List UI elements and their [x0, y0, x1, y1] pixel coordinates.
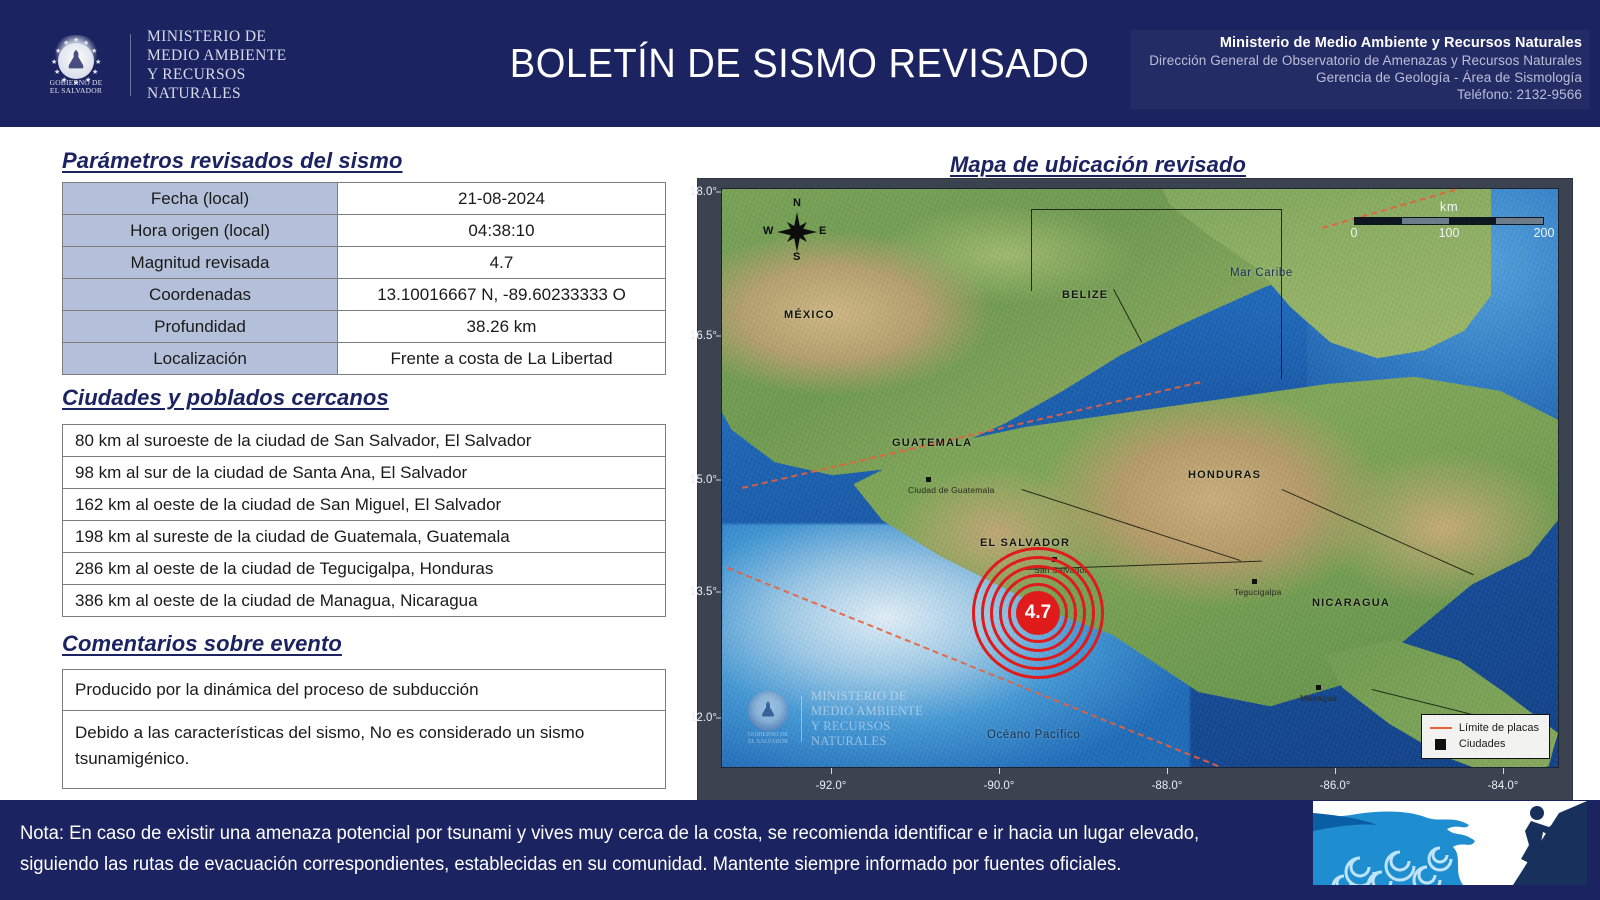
- table-row: Fecha (local) 21-08-2024: [63, 183, 666, 215]
- watermark-line-1: MINISTERIO DE: [811, 689, 923, 704]
- axis-x-tick-4: -84.0°: [1488, 780, 1519, 792]
- table-row: Profundidad 38.26 km: [63, 311, 666, 343]
- city-item-1: 98 km al sur de la ciudad de Santa Ana, …: [63, 457, 666, 489]
- table-row: 198 km al sureste de la ciudad de Guatem…: [63, 521, 666, 553]
- comments-section-title: Comentarios sobre evento: [62, 631, 342, 657]
- axis-x-tick-0: -92.0°: [816, 780, 847, 792]
- cities-table: 80 km al suroeste de la ciudad de San Sa…: [62, 424, 666, 617]
- param-value-magnitud: 4.7: [338, 247, 666, 279]
- map-label-managua: Managua: [1300, 693, 1337, 703]
- contact-area: Gerencia de Geología - Área de Sismologí…: [1138, 69, 1582, 86]
- axis-x-tick-1: -90.0°: [984, 780, 1015, 792]
- logo-divider: [130, 34, 131, 96]
- table-row: Hora origen (local) 04:38:10: [63, 215, 666, 247]
- contact-ministry: Ministerio de Medio Ambiente y Recursos …: [1138, 34, 1582, 52]
- table-row: Debido a las características del sismo, …: [63, 711, 666, 789]
- param-value-fecha: 21-08-2024: [338, 183, 666, 215]
- axis-y-tick-4: 12.0°: [690, 712, 717, 724]
- param-label-hora: Hora origen (local): [63, 215, 338, 247]
- axis-y-tick-3: 13.5°: [690, 586, 717, 598]
- border-belize-east: [1281, 209, 1282, 379]
- watermark-line-3: Y RECURSOS: [811, 719, 923, 734]
- map-axis-x: -92.0° -90.0° -88.0° -86.0° -84.0°: [721, 768, 1559, 802]
- parameters-table: Fecha (local) 21-08-2024 Hora origen (lo…: [62, 182, 666, 375]
- bulletin-page: ★ ★ ★ ★ ★ ★ ★ ★ ★ ★ ★ ★ GOBIE: [0, 0, 1600, 900]
- legend-label-plate-boundary: Límite de placas: [1459, 722, 1539, 734]
- city-item-2: 162 km al oeste de la ciudad de San Migu…: [63, 489, 666, 521]
- footer-note-text: Nota: En caso de existir una amenaza pot…: [20, 818, 1271, 880]
- tsunami-evacuation-icon: [1313, 801, 1587, 885]
- table-row: 80 km al suroeste de la ciudad de San Sa…: [63, 425, 666, 457]
- axis-y-tick-2: 15.0°: [690, 474, 717, 486]
- param-value-profundidad: 38.26 km: [338, 311, 666, 343]
- ministry-name: MINISTERIO DE MEDIO AMBIENTE Y RECURSOS …: [147, 27, 287, 103]
- param-value-localizacion: Frente a costa de La Libertad: [338, 343, 666, 375]
- comment-item-0: Producido por la dinámica del proceso de…: [63, 670, 666, 711]
- ministry-line-3: Y RECURSOS: [147, 65, 287, 84]
- scale-tick-1: 100: [1439, 226, 1460, 240]
- watermark-line-2: MEDIO AMBIENTE: [811, 704, 923, 719]
- map-section-title: Mapa de ubicación revisado: [950, 152, 1246, 178]
- city-square-icon: [1435, 739, 1446, 750]
- ministry-line-4: NATURALES: [147, 84, 287, 103]
- parameters-section-title: Parámetros revisados del sismo: [62, 148, 403, 174]
- table-row: Localización Frente a costa de La Libert…: [63, 343, 666, 375]
- table-row: Coordenadas 13.10016667 N, -89.60233333 …: [63, 279, 666, 311]
- table-row: 162 km al oeste de la ciudad de San Migu…: [63, 489, 666, 521]
- table-row: Magnitud revisada 4.7: [63, 247, 666, 279]
- scale-tick-0: 0: [1351, 226, 1358, 240]
- axis-x-tick-3: -86.0°: [1320, 780, 1351, 792]
- map-label-tegucigalpa: Tegucigalpa: [1234, 587, 1282, 597]
- map-label-mar-caribe: Mar Caribe: [1230, 267, 1293, 279]
- compass-west-label: W: [763, 225, 773, 237]
- compass-north-label: N: [793, 197, 801, 209]
- tsunami-wave-graphic: [1313, 801, 1587, 885]
- city-item-0: 80 km al suroeste de la ciudad de San Sa…: [63, 425, 666, 457]
- contact-direction: Dirección General de Observatorio de Ame…: [1138, 52, 1582, 69]
- ministry-line-1: MINISTERIO DE: [147, 27, 287, 46]
- cities-section-title: Ciudades y poblados cercanos: [62, 385, 389, 411]
- seal-emblem-icon: [66, 50, 86, 72]
- table-row: 386 km al oeste de la ciudad de Managua,…: [63, 585, 666, 617]
- ministry-line-2: MEDIO AMBIENTE: [147, 46, 287, 65]
- axis-y-tick-1: 16.5°: [690, 330, 717, 342]
- plate-boundary-line-icon: [1430, 727, 1452, 729]
- left-column: Parámetros revisados del sismo Fecha (lo…: [0, 127, 690, 800]
- location-map[interactable]: 18.0° 16.5° 15.0° 13.5° 12.0°: [697, 178, 1573, 803]
- map-label-ciudad-guatemala: Ciudad de Guatemala: [908, 485, 995, 495]
- compass-south-label: S: [793, 251, 800, 263]
- axis-y-tick-0: 18.0°: [690, 186, 717, 198]
- compass-rose-icon: N S E W: [764, 199, 830, 265]
- map-label-nicaragua: NICARAGUA: [1312, 597, 1390, 609]
- watermark-line-4: NATURALES: [811, 734, 923, 749]
- header-contact-block: Ministerio de Medio Ambiente y Recursos …: [1130, 30, 1590, 109]
- city-item-5: 386 km al oeste de la ciudad de Managua,…: [63, 585, 666, 617]
- epicenter-magnitude-label: 4.7: [1016, 591, 1060, 635]
- map-label-oceano-pacifico: Océano Pacífico: [987, 729, 1080, 741]
- compass-east-label: E: [819, 225, 826, 237]
- city-item-4: 286 km al oeste de la ciudad de Teguciga…: [63, 553, 666, 585]
- map-label-honduras: HONDURAS: [1188, 469, 1261, 481]
- border-guatemala-mexico: [1032, 209, 1282, 210]
- border-belize: [1031, 209, 1032, 291]
- param-label-coordenadas: Coordenadas: [63, 279, 338, 311]
- scale-unit-label: km: [1354, 199, 1544, 214]
- contact-phone: Teléfono: 2132-9566: [1138, 86, 1582, 103]
- legend-row-cities: Ciudades: [1430, 736, 1539, 752]
- city-item-3: 198 km al sureste de la ciudad de Guatem…: [63, 521, 666, 553]
- table-row: Producido por la dinámica del proceso de…: [63, 670, 666, 711]
- param-label-fecha: Fecha (local): [63, 183, 338, 215]
- param-label-profundidad: Profundidad: [63, 311, 338, 343]
- legend-label-cities: Ciudades: [1459, 738, 1505, 750]
- page-header: ★ ★ ★ ★ ★ ★ ★ ★ ★ ★ ★ ★ GOBIE: [0, 0, 1600, 127]
- param-label-magnitud: Magnitud revisada: [63, 247, 338, 279]
- table-row: 286 km al oeste de la ciudad de Teguciga…: [63, 553, 666, 585]
- scale-tick-2: 200: [1534, 226, 1555, 240]
- map-label-mexico: MÉXICO: [784, 309, 835, 321]
- param-value-coordenadas: 13.10016667 N, -89.60233333 O: [338, 279, 666, 311]
- city-dot-managua: [1316, 685, 1321, 690]
- map-scale-bar: km 0 100 200: [1354, 199, 1544, 241]
- param-label-localizacion: Localización: [63, 343, 338, 375]
- map-label-belize: BELIZE: [1062, 289, 1108, 301]
- city-dot-guatemala: [926, 477, 931, 482]
- map-label-guatemala: GUATEMALA: [892, 437, 972, 449]
- map-canvas: N S E W km 0 100 200 Mar Caribe Océano P…: [721, 188, 1559, 768]
- map-watermark-logo: GOBIERNO DEEL SALVADOR MINISTERIO DE MED…: [744, 689, 923, 749]
- param-value-hora: 04:38:10: [338, 215, 666, 247]
- epicenter-marker[interactable]: 4.7: [970, 545, 1106, 681]
- table-row: 98 km al sur de la ciudad de Santa Ana, …: [63, 457, 666, 489]
- city-dot-tegucigalpa: [1252, 579, 1257, 584]
- legend-row-plate: Límite de placas: [1430, 720, 1539, 736]
- comment-item-1: Debido a las características del sismo, …: [63, 711, 666, 789]
- header-logo-block: ★ ★ ★ ★ ★ ★ ★ ★ ★ ★ ★ ★ GOBIE: [40, 22, 287, 107]
- comments-table: Producido por la dinámica del proceso de…: [62, 669, 666, 789]
- government-seal-icon: ★ ★ ★ ★ ★ ★ ★ ★ ★ ★ ★ ★ GOBIE: [40, 34, 112, 96]
- map-axis-y: 18.0° 16.5° 15.0° 13.5° 12.0°: [698, 188, 721, 768]
- axis-x-tick-2: -88.0°: [1152, 780, 1183, 792]
- map-legend: Límite de placas Ciudades: [1421, 714, 1550, 759]
- page-title-text: BOLETÍN DE SISMO REVISADO: [510, 40, 1089, 87]
